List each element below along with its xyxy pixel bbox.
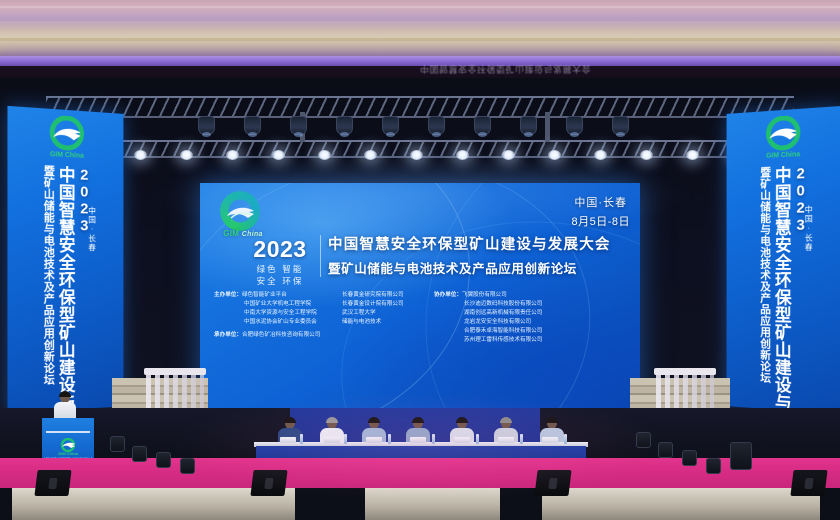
stage-monitor-speaker [790,470,827,496]
panelist-hair [456,417,468,423]
screen-slogan-line1: 绿色 智能 [244,264,316,276]
panelist-hair [412,417,424,423]
water-bottle [564,434,567,444]
ceiling-reflected-title: 中国智慧安全环保型矿山建设与发展大会 [420,62,630,76]
floor-moving-light [636,432,651,448]
gim-wordmark-main: GIM [223,229,239,238]
ceiling-beam [0,6,840,8]
ceiling-beam [0,22,840,23]
right-banner-meta: 中国·长春 [804,205,812,252]
coorganizer-item: 苏州理工雷科传感技术有限公司 [434,336,542,345]
svg-text:GIM China: GIM China [50,151,84,160]
moving-head-light [290,116,307,135]
organizer-item: 中国矿业大学机电工程学院 [214,300,342,309]
panel-nameplate [410,437,426,443]
coorganizer-item: 长沙迪迈数码科技股份有限公司 [434,300,542,309]
truss-post [545,112,550,142]
right-banner-title: 中国智慧安全环保型矿山建设与发展大会 [772,166,789,407]
screen-sponsor-block: 主办单位：绿色智能矿业平台 中国矿业大学机电工程学院 中南大学资源与安全工程学院… [214,291,632,345]
organizer-item: 武汉工程大学 [342,309,434,318]
balustrade-cap-right [654,368,716,375]
stage-apron [0,488,840,520]
speaker-hair [59,391,71,397]
organizer-label: 主办单位： [214,292,242,298]
right-vertical-banner: GIM China 2023 中国智慧安全环保型矿山建设与发展大会 暨矿山储能与… [727,106,840,414]
moving-head-light [198,116,215,135]
organizer-item: 储能与电池技术 [342,318,434,327]
organizer-item: 绿色智能矿业平台 [242,292,287,298]
panel-nameplate [498,437,514,443]
balustrade-cap-left [144,368,206,375]
coorganizer-label: 协办单位： [434,292,462,298]
coorganizer-item: 合肥泰禾卓海智能科技有限公司 [434,327,542,336]
screen-year: 2023 [244,238,316,261]
moving-head-light [474,116,491,135]
undertaker-label: 承办单位： [214,332,242,338]
panel-nameplate [366,437,382,443]
panel-nameplate [542,437,558,443]
organizer-item: 中南大学资源与安全工程学院 [214,309,342,318]
ceiling-beam [0,38,840,41]
gim-swoosh-icon [225,203,257,223]
stage-spotlight [456,150,469,160]
screen-divider [320,235,321,277]
water-bottle [476,434,479,444]
organizer-item: 长春黄金研究院有限公司 [342,291,434,300]
left-banner-subtitle: 暨矿山储能与电池技术及产品应用创新论坛 [42,165,53,408]
gim-china-logo: GIM China [39,114,94,161]
right-banner-subtitle: 暨矿山储能与电池技术及产品应用创新论坛 [758,167,769,405]
panel-nameplate [324,437,340,443]
speaker-at-podium [54,392,76,420]
stage-spotlight [272,150,285,160]
main-led-screen: GIM China 2023 绿色 智能 安全 环保 中国智慧安全环保型矿山建设… [200,183,640,408]
lighting-truss-upper [46,96,794,118]
screen-dates: 8月5日-8日 [571,213,630,229]
svg-text:GIM China: GIM China [766,151,800,160]
stage-monitor-speaker [250,470,287,496]
coorganizer-item: 飞翼股份有限公司 [462,292,507,298]
screen-place: 中国·长春 [571,194,630,210]
stage-spotlight [686,150,699,160]
gim-china-logo: GIM China [212,191,274,239]
stage-spotlight [318,150,331,160]
floor-moving-light [156,452,171,468]
apron-shadow [295,488,365,520]
right-banner-year: 2023 [793,165,809,408]
sponsor-column-coorganizer: 协办单位：飞翼股份有限公司 长沙迪迈数码科技股份有限公司 湖南创远高新机械有限责… [434,291,542,345]
podium-rule [46,431,90,433]
moving-head-light [612,116,629,135]
conference-stage-photo: 中国智慧安全环保型矿山建设与发展大会 [0,0,840,520]
left-vertical-banner: GIM China 2023 中国智慧安全环保型矿山建设与发展大会 暨矿山储能与… [7,106,123,414]
stage-spotlight [134,150,147,160]
floor-moving-light [658,442,673,458]
water-bottle [432,434,435,444]
stage-spotlight [180,150,193,160]
organizer-item: 长春黄金设计院有限公司 [342,300,434,309]
stage-spotlight [364,150,377,160]
water-bottle [388,434,391,444]
stage-monitor-speaker [34,470,71,496]
left-banner-meta: 中国·长春 [87,207,95,253]
svg-text:GIM China: GIM China [58,451,79,456]
left-banner-title: 中国智慧安全环保型矿山建设与发展大会 [56,166,73,407]
panelist-hair [326,417,338,423]
screen-year-block: 2023 绿色 智能 安全 环保 [244,238,316,289]
panel-nameplate [454,437,470,443]
panelist-hair [500,417,512,423]
floor-moving-light [132,446,147,462]
hall-ceiling [0,0,840,56]
floor-moving-light [706,458,721,474]
screen-main-title: 中国智慧安全环保型矿山建设与发展大会 暨矿山储能与电池技术及产品应用创新论坛 [328,233,628,277]
right-banner-text: 2023 中国智慧安全环保型矿山建设与发展大会 暨矿山储能与电池技术及产品应用创… [727,163,840,410]
moving-head-light [566,116,583,135]
gim-china-logo: GIM China [57,438,79,456]
screen-place-block: 中国·长春 8月5日-8日 [571,194,630,229]
floor-moving-light [110,436,125,452]
stage-spotlight [226,150,239,160]
moving-head-light [428,116,445,135]
panelist-hair [546,417,558,423]
left-banner-text: 2023 中国智慧安全环保型矿山建设与发展大会 暨矿山储能与电池技术及产品应用创… [7,163,123,410]
stage-spotlight [502,150,515,160]
panel-nameplate [280,437,296,443]
moving-head-light [336,116,353,135]
moving-head-light [520,116,537,135]
panelist-hair [368,417,380,423]
stage-spotlight [594,150,607,160]
floor-moving-light [682,450,697,466]
organizer-item: 中国水泥协会矿山专业委员会 [214,318,342,327]
screen-title-line2: 暨矿山储能与电池技术及产品应用创新论坛 [328,258,628,277]
moving-head-light [244,116,261,135]
sponsor-column-organizer2: 长春黄金研究院有限公司 长春黄金设计院有限公司 武汉工程大学 储能与电池技术 [342,291,434,345]
water-bottle [344,434,347,444]
water-bottle [300,434,303,444]
stage-spotlight [640,150,653,160]
apron-shadow [0,488,12,520]
coorganizer-item: 湖南创远高新机械有限责任公司 [434,309,542,318]
left-banner-year: 2023 [77,166,92,405]
screen-title-line1: 中国智慧安全环保型矿山建设与发展大会 [328,233,628,254]
stage-monitor-speaker [534,470,571,496]
coorganizer-item: 龙岩龙安安全科技有限公司 [434,318,542,327]
floor-moving-light [730,442,752,470]
gim-china-logo: GIM China [756,114,811,161]
undertaker-value: 合肥绿色矿冶科技咨询有限公司 [242,332,320,338]
stage-spotlight [548,150,561,160]
moving-head-light [382,116,399,135]
screen-slogan-line2: 安全 环保 [244,276,316,288]
sponsor-column-organizer: 主办单位：绿色智能矿业平台 中国矿业大学机电工程学院 中南大学资源与安全工程学院… [214,291,342,345]
water-bottle [520,434,523,444]
floor-moving-light [180,458,195,474]
panelist-hair [284,417,296,423]
stage-spotlight [410,150,423,160]
